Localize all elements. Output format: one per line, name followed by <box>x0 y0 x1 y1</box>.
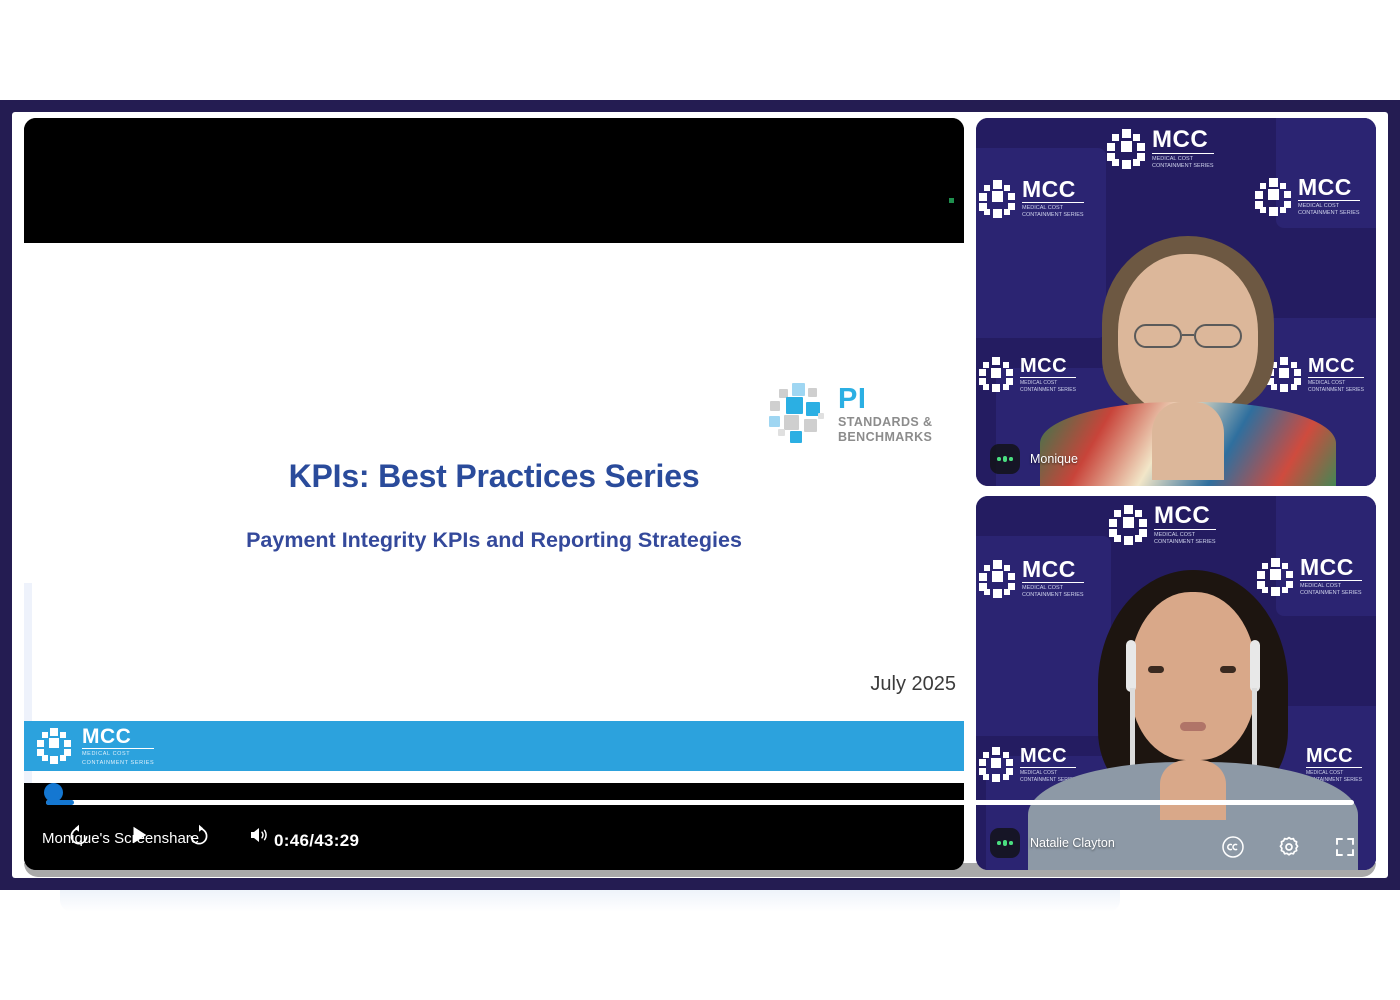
screenshare-region[interactable]: PI STANDARDS & BENCHMARKS KPIs: Best Pra… <box>24 118 964 870</box>
forward-10-icon[interactable] <box>184 820 214 850</box>
mcc-bg-mark-icon <box>1106 129 1146 169</box>
mcc-bg-tagline-1: MEDICAL COST <box>1152 156 1214 163</box>
player-control-bar: Monique's Screenshare <box>24 818 964 870</box>
mcc-bg-wordmark: MCC MEDICAL COST CONTAINMENT SERIES <box>1298 176 1360 217</box>
mcc-logo-mark-icon <box>36 728 72 764</box>
player-right-controls <box>1220 834 1358 860</box>
mcc-bg-tagline-1: MEDICAL COST <box>1298 203 1360 210</box>
pi-logo-line2: BENCHMARKS <box>838 431 932 444</box>
participant-tile-monique[interactable]: MCC MEDICAL COST CONTAINMENT SERIES <box>976 118 1376 486</box>
screen-artifact-dot <box>949 198 954 203</box>
screenshare-letterbox-top <box>24 118 964 243</box>
mcc-bg-wordmark: MCC MEDICAL COST CONTAINMENT SERIES <box>1154 504 1216 546</box>
gear-icon[interactable] <box>1276 834 1302 860</box>
mcc-tagline-2: CONTAINMENT SERIES <box>82 760 154 767</box>
pi-logo-wordmark: PI STANDARDS & BENCHMARKS <box>838 384 932 445</box>
progress-track[interactable] <box>46 800 1354 805</box>
mcc-tagline-1: MEDICAL COST <box>82 751 154 758</box>
audio-level-indicator-icon <box>990 444 1020 474</box>
mcc-wordmark: MCC MEDICAL COST CONTAINMENT SERIES <box>82 726 154 767</box>
slide-date: July 2025 <box>870 673 956 696</box>
mcc-bg-mark-icon <box>978 180 1016 218</box>
background-tint-bottom <box>60 890 1120 912</box>
mcc-bg-brand: MCC <box>1152 128 1214 154</box>
participant-name-badge: Natalie Clayton <box>990 828 1115 858</box>
mcc-bg-wordmark: MCC MEDICAL COST CONTAINMENT SERIES <box>1152 128 1214 170</box>
mcc-bg-brand: MCC <box>1298 176 1360 201</box>
time-display: 0:46/43:29 <box>274 831 359 851</box>
fullscreen-icon[interactable] <box>1332 834 1358 860</box>
audio-level-indicator-icon <box>990 828 1020 858</box>
page-root: PI STANDARDS & BENCHMARKS KPIs: Best Pra… <box>0 0 1400 1000</box>
progress-thumb[interactable] <box>44 783 63 802</box>
pi-logo-line1: STANDARDS & <box>838 416 932 429</box>
rewind-10-icon[interactable] <box>64 820 94 850</box>
playback-controls <box>64 820 274 850</box>
mcc-bg-tagline-2: CONTAINMENT SERIES <box>1022 212 1084 219</box>
participant-name: Natalie Clayton <box>1030 836 1115 850</box>
mcc-bg-brand: MCC <box>1022 178 1084 203</box>
participant-video-natalie-clayton <box>988 570 1376 870</box>
participant-name: Monique <box>1030 452 1078 466</box>
playback-progress-row[interactable] <box>24 790 1376 814</box>
mcc-bg-mark-icon <box>1108 505 1148 545</box>
slide-footer-bar: MCC MEDICAL COST CONTAINMENT SERIES <box>24 721 964 771</box>
speaker-icon[interactable] <box>244 820 274 850</box>
mcc-bg-mark-icon <box>1254 178 1292 216</box>
pi-logo-primary: PI <box>838 384 932 414</box>
pi-standards-benchmarks-logo: PI STANDARDS & BENCHMARKS <box>766 383 932 445</box>
pi-logo-mark-icon <box>766 383 828 445</box>
mcc-bg-tagline-2: CONTAINMENT SERIES <box>1154 539 1216 546</box>
presentation-slide: PI STANDARDS & BENCHMARKS KPIs: Best Pra… <box>24 243 964 783</box>
mcc-bg-tagline-2: CONTAINMENT SERIES <box>1152 163 1214 170</box>
mcc-bg-tagline-1: MEDICAL COST <box>1154 532 1216 539</box>
meeting-stage: PI STANDARDS & BENCHMARKS KPIs: Best Pra… <box>24 118 1376 880</box>
play-icon[interactable] <box>124 820 154 850</box>
mcc-bg-wordmark: MCC MEDICAL COST CONTAINMENT SERIES <box>1022 178 1084 219</box>
mcc-bg-brand: MCC <box>1154 504 1216 530</box>
slide-title: KPIs: Best Practices Series <box>24 458 964 495</box>
slide-subtitle: Payment Integrity KPIs and Reporting Str… <box>24 528 964 553</box>
participant-name-badge: Monique <box>990 444 1078 474</box>
mcc-bg-tagline-1: MEDICAL COST <box>1022 205 1084 212</box>
cc-icon[interactable] <box>1220 834 1246 860</box>
mcc-brand: MCC <box>82 726 154 749</box>
mcc-bg-tagline-2: CONTAINMENT SERIES <box>1298 210 1360 217</box>
